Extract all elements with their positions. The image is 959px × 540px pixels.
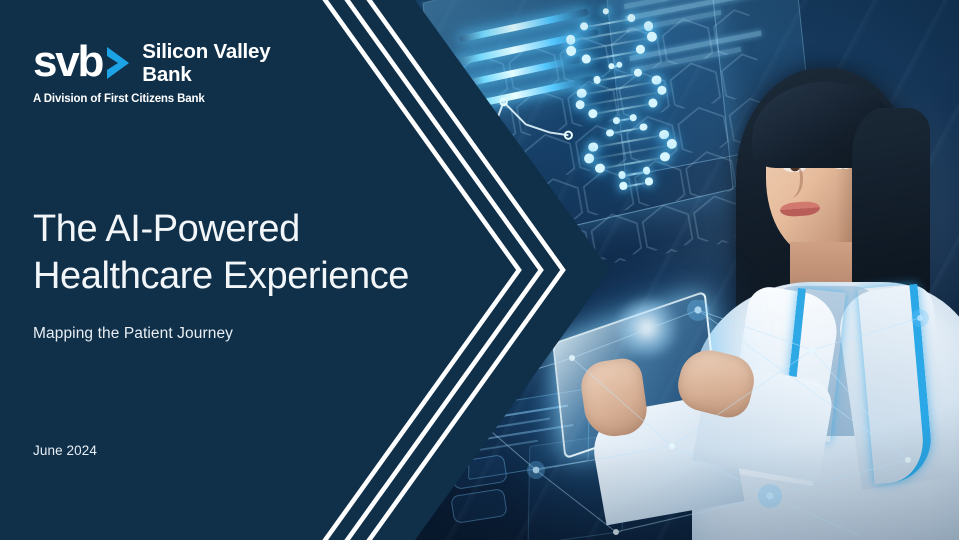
page-title: The AI-Powered Healthcare Experience [33, 206, 433, 300]
logo-tagline: A Division of First Citizens Bank [33, 93, 270, 105]
logo-bank-name: Silicon Valley Bank [142, 41, 270, 86]
logo-wordmark: svb [33, 40, 102, 84]
slide-content: svb Silicon Valley Bank A Division of Fi… [0, 0, 420, 540]
title-line-2: Healthcare Experience [33, 255, 409, 297]
logo-name-line2: Bank [142, 63, 191, 86]
page-subtitle: Mapping the Patient Journey [33, 325, 233, 343]
title-slide: svb Silicon Valley Bank A Division of Fi… [0, 0, 959, 540]
publication-date: June 2024 [33, 443, 97, 458]
title-line-1: The AI-Powered [33, 208, 300, 250]
svb-logo[interactable]: svb Silicon Valley Bank A Division of Fi… [33, 40, 270, 105]
chevron-right-icon [105, 46, 131, 85]
logo-name-line1: Silicon Valley [142, 40, 270, 63]
